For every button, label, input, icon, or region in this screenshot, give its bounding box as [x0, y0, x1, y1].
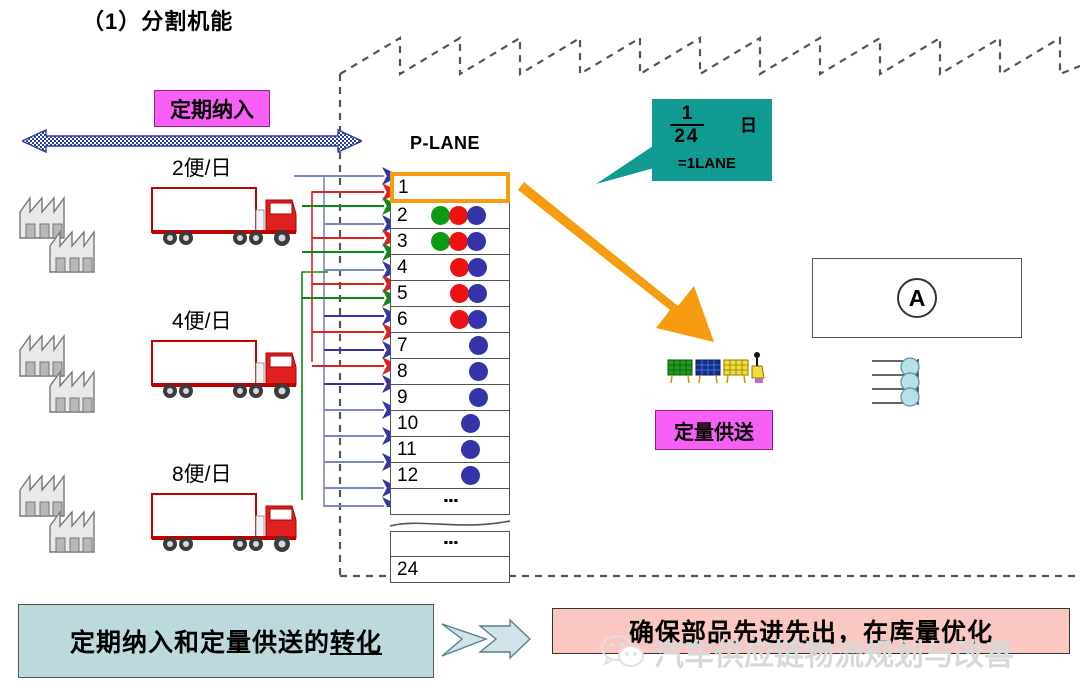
fixed-quantity-delivery-label: 定量供送	[655, 410, 773, 450]
truck-icon	[148, 180, 308, 252]
summary-left-text-underlined: 转化	[330, 629, 382, 657]
plane-title: P-LANE	[410, 133, 480, 154]
plane-lane-table: 1 2 3 4 5 6 7 8 9 10 11 12	[390, 172, 510, 583]
lane-row[interactable]: 24	[390, 557, 510, 583]
summary-left-text-plain: 定期纳入和定量供送的	[70, 629, 330, 657]
periodic-delivery-label-text: 定期纳入	[170, 94, 254, 124]
lane-number: 9	[391, 388, 431, 407]
lane-number: 4	[391, 258, 431, 277]
lane-ellipsis-row: ⋮	[390, 531, 510, 557]
lane-number: 1	[394, 178, 432, 197]
lane-number: 8	[391, 362, 431, 381]
lane-row[interactable]: 2	[390, 203, 510, 229]
lane-ellipsis-row: ⋮	[390, 489, 510, 515]
periodic-delivery-label: 定期纳入	[154, 90, 270, 127]
factory-icon	[48, 226, 100, 274]
lane-row[interactable]: 7	[390, 333, 510, 359]
lane-row[interactable]: 1	[390, 172, 510, 203]
fraction-unit: 日	[740, 111, 757, 136]
lane-dots	[469, 388, 487, 407]
lane-number: 24	[391, 560, 431, 579]
lane-number: 3	[391, 232, 431, 251]
summary-right-text: 确保部品先进先出，在库量优化	[629, 613, 993, 649]
lane-row[interactable]: 6	[390, 307, 510, 333]
callout-equals-label: =1LANE	[678, 155, 736, 172]
area-a-box: A	[812, 258, 1022, 338]
block-arrow-right-icon	[440, 618, 532, 662]
summary-right-box: 确保部品先进先出，在库量优化	[552, 608, 1070, 654]
truck-icon	[148, 333, 308, 405]
truck-icon	[148, 486, 308, 558]
lane-row[interactable]: 4	[390, 255, 510, 281]
lane-number: 6	[391, 310, 431, 329]
area-a-letter: A	[909, 285, 926, 312]
orange-split-arrow-icon	[518, 178, 728, 346]
lane-dots	[431, 232, 485, 251]
lane-dots	[469, 362, 487, 381]
factory-icon	[48, 506, 100, 554]
area-a-badge: A	[897, 278, 937, 318]
lane-ellipsis: ⋮	[446, 492, 454, 512]
lane-row[interactable]: 3	[390, 229, 510, 255]
trip-label: 4便/日	[172, 305, 232, 335]
fixed-quantity-delivery-text: 定量供送	[674, 416, 754, 445]
summary-left-box: 定期纳入和定量供送的转化	[18, 604, 434, 678]
lane-number: 10	[391, 414, 431, 433]
lane-number: 12	[391, 466, 431, 485]
lane-break-wave	[390, 515, 510, 531]
fraction-callout: 1 24 日 =1LANE	[652, 99, 772, 181]
lane-dots	[450, 310, 486, 329]
lane-number: 5	[391, 284, 431, 303]
lane-row[interactable]: 12	[390, 463, 510, 489]
lane-feed-arrows	[288, 162, 400, 507]
lane-dots	[450, 284, 486, 303]
fraction: 1 24	[670, 105, 704, 147]
lane-row[interactable]: 10	[390, 411, 510, 437]
page-title: （1）分割机能	[82, 4, 233, 36]
lane-row[interactable]: 11	[390, 437, 510, 463]
trip-label: 8便/日	[172, 458, 232, 488]
fraction-denominator: 24	[670, 127, 704, 147]
lane-row[interactable]: 9	[390, 385, 510, 411]
lane-dots	[461, 414, 479, 433]
lane-dots	[461, 440, 479, 459]
trip-label: 2便/日	[172, 152, 232, 182]
lane-row[interactable]: 8	[390, 359, 510, 385]
lane-dots	[450, 258, 486, 277]
tow-train-icon	[666, 352, 770, 392]
lane-dots	[431, 206, 485, 225]
fraction-numerator: 1	[670, 105, 704, 123]
summary-left-text: 定期纳入和定量供送的转化	[70, 623, 382, 659]
factory-icon	[48, 366, 100, 414]
rack-lanes-icon	[870, 355, 926, 411]
lane-ellipsis: ⋮	[446, 534, 454, 554]
lane-dots	[461, 466, 479, 485]
lane-number: 2	[391, 206, 431, 225]
lane-number: 11	[391, 440, 431, 459]
double-headed-arrow-icon	[22, 128, 362, 154]
lane-row[interactable]: 5	[390, 281, 510, 307]
lane-number: 7	[391, 336, 431, 355]
lane-dots	[469, 336, 487, 355]
